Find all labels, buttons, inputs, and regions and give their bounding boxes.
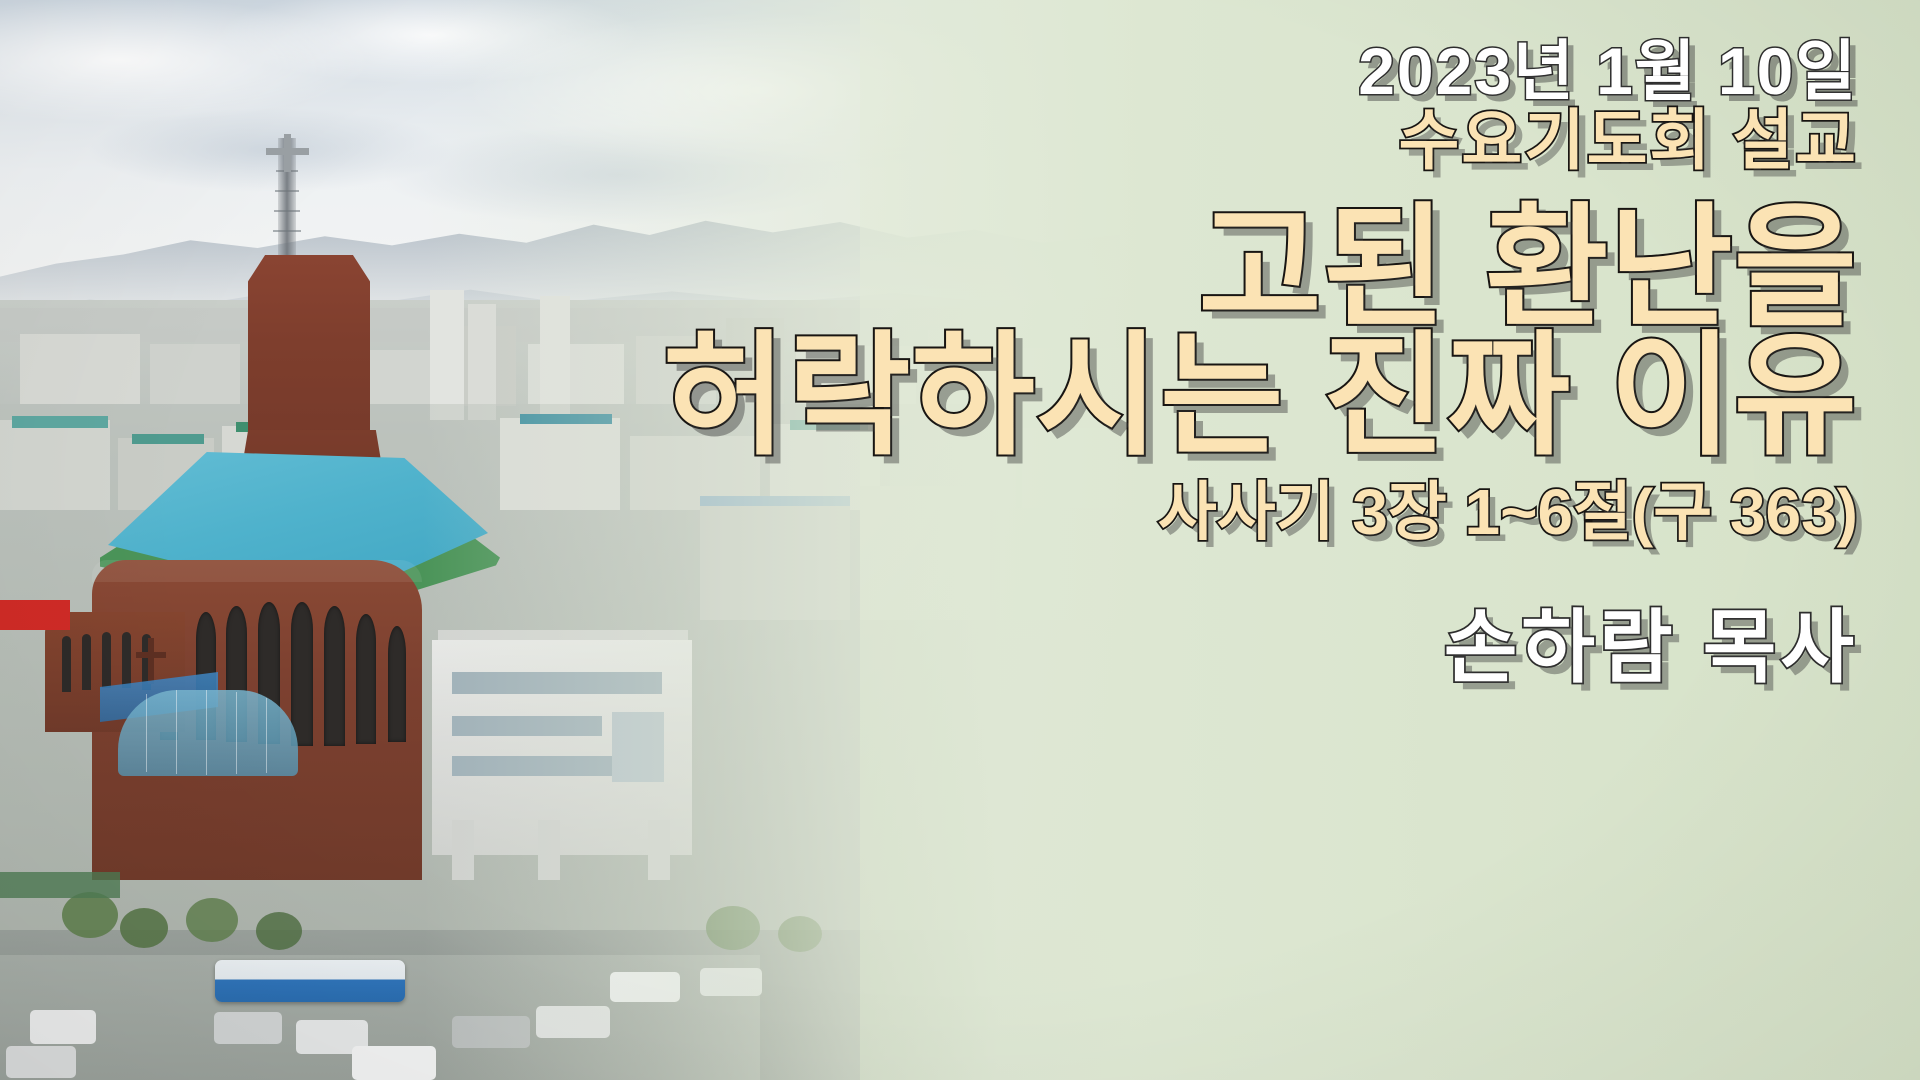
- text-overlay: 2023년 1월 10일 수요기도회 설교 고된 환난을 허락하시는 진짜 이유…: [0, 0, 1920, 1080]
- sermon-title-line-1: 고된 환난을: [1198, 201, 1858, 338]
- preacher-name: 손하람 목사: [1444, 607, 1858, 689]
- service-name: 수요기도회 설교: [1399, 107, 1858, 174]
- scripture-reference: 사사기 3장 1~6절(구 363): [1158, 480, 1858, 545]
- sermon-date: 2023년 1월 10일: [1358, 38, 1858, 105]
- sermon-title-card: 2023년 1월 10일 수요기도회 설교 고된 환난을 허락하시는 진짜 이유…: [0, 0, 1920, 1080]
- sermon-title-line-2: 허락하시는 진짜 이유: [663, 329, 1858, 466]
